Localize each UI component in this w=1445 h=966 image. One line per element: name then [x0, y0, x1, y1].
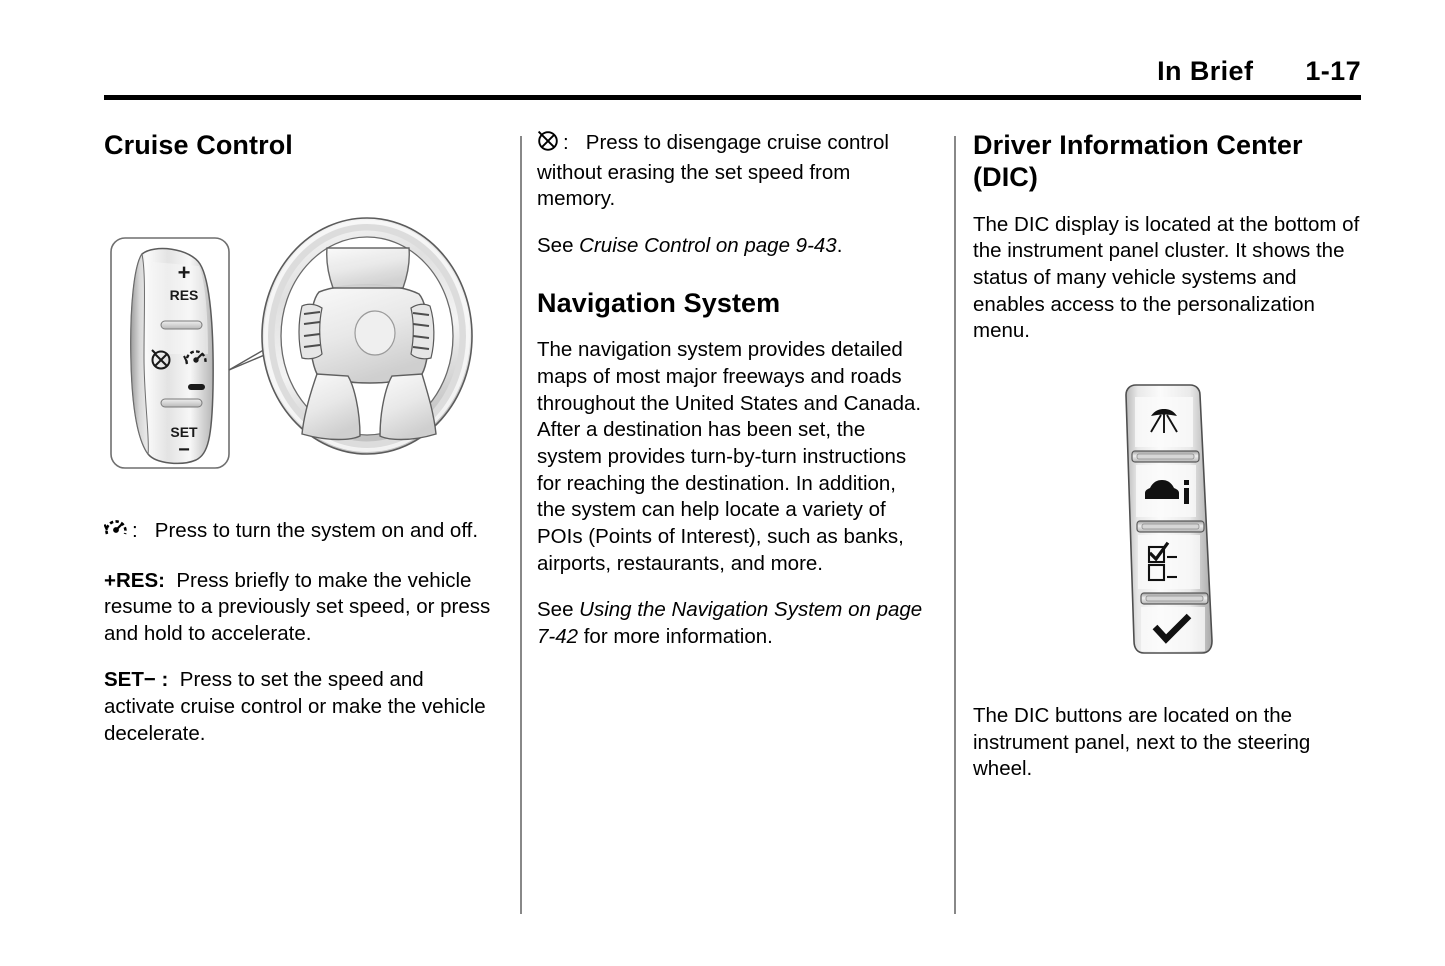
cruise-set-description: SET− : Press to set the speed and activa…: [104, 667, 496, 747]
header-row: In Brief 1-17: [104, 56, 1361, 94]
section-title-cruise-control: Cruise Control: [104, 130, 496, 162]
dic-description-paragraph: The DIC display is located at the bottom…: [973, 212, 1365, 345]
left-column: Cruise Control: [104, 130, 496, 747]
wheel-left-switch-cluster: [299, 304, 322, 359]
navigation-system-cross-reference: See Using the Navigation System on page …: [537, 597, 929, 650]
dic-buttons-location-paragraph: The DIC buttons are located on the instr…: [973, 703, 1365, 783]
cruise-onoff-separator: :: [132, 519, 138, 542]
cruise-control-illustration: + RES: [104, 188, 496, 488]
stalk-res-label: RES: [170, 287, 199, 303]
cruise-control-figure: + RES: [104, 188, 496, 488]
xref1-tail: .: [837, 234, 843, 257]
stalk-minus-bar: [188, 384, 205, 390]
dic-button-vehicle-information[interactable]: [1136, 465, 1196, 517]
stalk-lower-rocker: [161, 399, 202, 407]
dic-slot-3: [1141, 593, 1208, 604]
page-header: In Brief 1-17: [104, 56, 1361, 104]
cruise-onoff-description: : Press to turn the system on and off.: [104, 518, 496, 548]
page-title: In Brief: [1157, 56, 1253, 87]
cruise-res-description: +RES: Press briefly to make the vehicle …: [104, 568, 496, 648]
steering-wheel: [262, 218, 472, 454]
column-divider-2: [954, 136, 956, 914]
cruise-control-cross-reference: See Cruise Control on page 9-43.: [537, 233, 929, 260]
cruise-res-label: +RES:: [104, 569, 165, 592]
stalk-set-label: SET: [170, 424, 198, 440]
stalk-plus-label: +: [178, 260, 191, 285]
cruise-control-icon: [104, 518, 130, 548]
cruise-cancel-text: Press to disengage cruise control withou…: [537, 131, 889, 210]
cruise-stalk: + RES: [131, 248, 213, 463]
wheel-right-switch-cluster: [411, 304, 434, 359]
right-column: Driver Information Center (DIC) The DIC …: [973, 130, 1365, 783]
stalk-minus-label: −: [178, 439, 190, 461]
cruise-cancel-separator: :: [563, 131, 569, 154]
xref1-italic: Cruise Control on page 9-43: [579, 234, 837, 257]
xref1-lead: See: [537, 234, 579, 257]
dic-button-customization-menu[interactable]: [1138, 535, 1200, 589]
cruise-cancel-description: : Press to disengage cruise control with…: [537, 130, 929, 213]
stalk-upper-rocker: [161, 321, 202, 329]
xref2-tail: for more information.: [578, 625, 773, 648]
page-number: 1-17: [1305, 56, 1361, 87]
middle-column: : Press to disengage cruise control with…: [537, 130, 929, 650]
column-divider-1: [520, 136, 522, 914]
dic-button-trip-odometer[interactable]: [1135, 397, 1193, 447]
content-columns: Cruise Control: [0, 130, 1445, 930]
cruise-onoff-text: Press to turn the system on and off.: [155, 519, 478, 542]
cruise-cancel-icon: [537, 130, 561, 160]
dic-buttons-figure: [973, 383, 1365, 663]
navigation-system-paragraph: The navigation system provides detailed …: [537, 337, 929, 577]
xref2-lead: See: [537, 598, 579, 621]
section-title-driver-information-center: Driver Information Center (DIC): [973, 130, 1365, 194]
cruise-set-label: SET− :: [104, 668, 168, 691]
dic-slot-2: [1137, 521, 1204, 532]
dic-button-set-clear[interactable]: [1141, 607, 1205, 651]
section-title-navigation-system: Navigation System: [537, 288, 929, 320]
dic-button-panel-illustration: [1104, 383, 1234, 663]
header-rule: [104, 95, 1361, 100]
dic-slot-1: [1132, 451, 1199, 462]
